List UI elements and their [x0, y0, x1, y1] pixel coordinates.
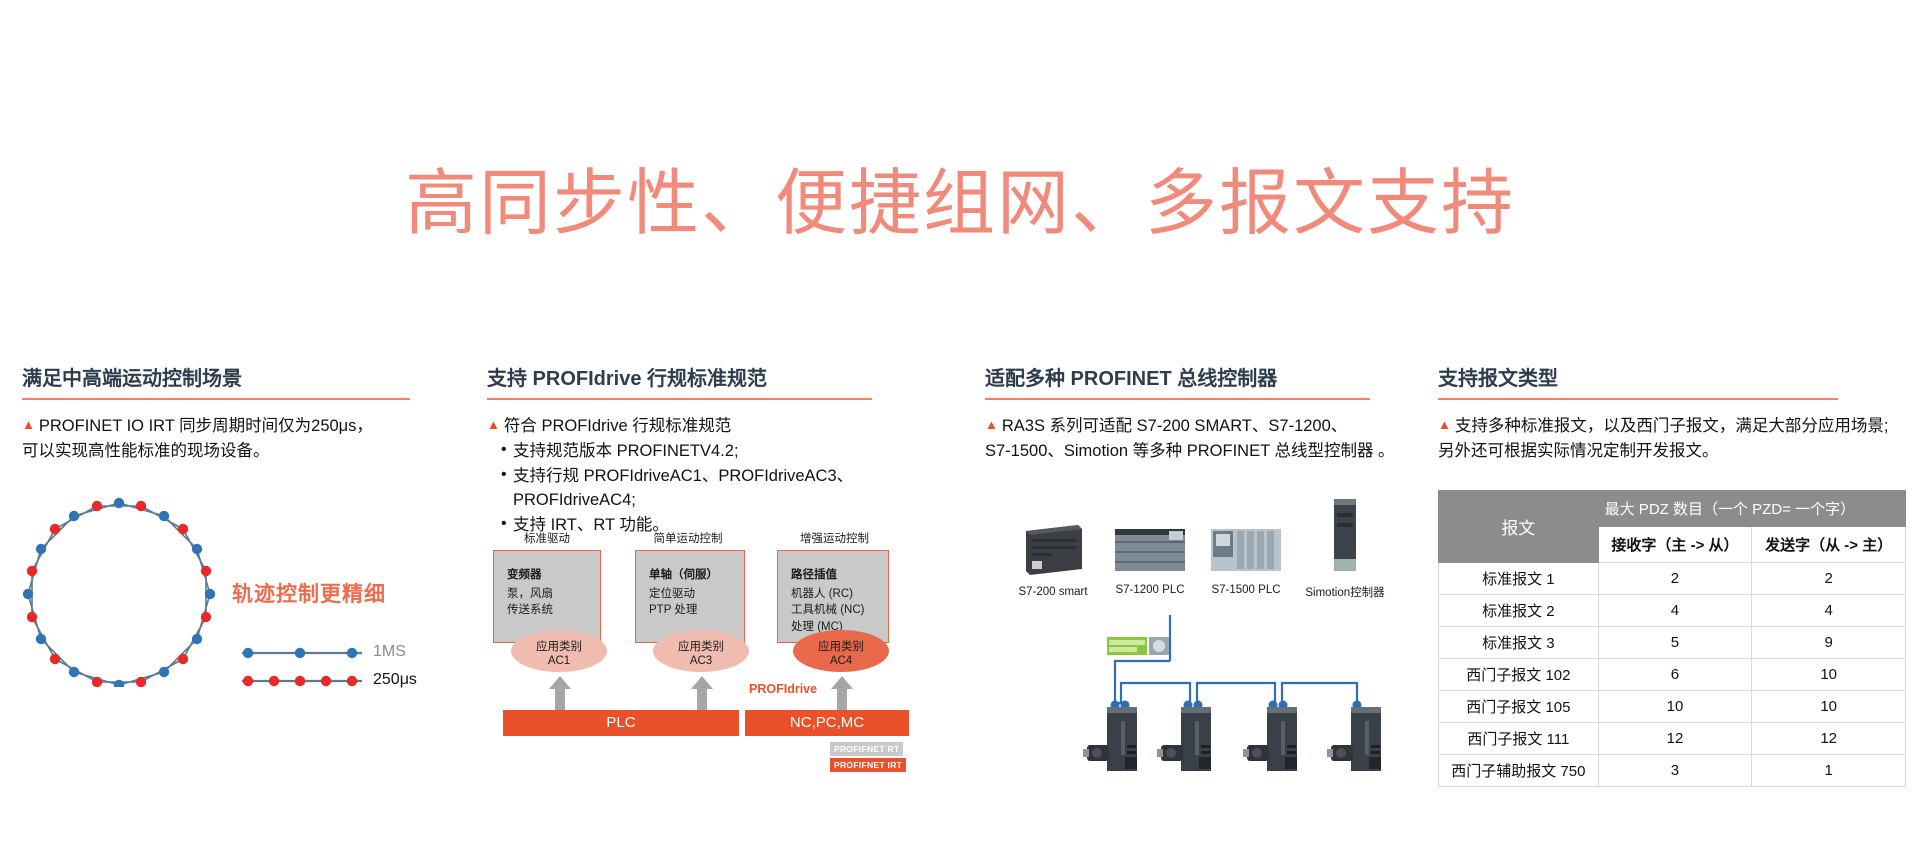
profidrive-box-standard-drive: 变频器 泵，风扇 传送系统 [493, 550, 601, 643]
servo-drive-icon [1083, 705, 1145, 777]
table-row: 标准报文 3 5 9 [1439, 627, 1906, 659]
controller-s7-200-smart: S7-200 smart [1003, 519, 1103, 598]
section-3-lead2: S7-1500、Simotion 等多种 PROFINET 总线型控制器 。 [985, 439, 1405, 464]
table-row: 西门子报文 102 6 10 [1439, 659, 1906, 691]
circle-svg [14, 487, 224, 687]
cell-telegram-name: 标准报文 2 [1439, 595, 1599, 627]
controller-label: S7-200 smart [1003, 586, 1103, 598]
profidrive-oval-ac1: 应用类别 AC1 [511, 630, 607, 672]
section-1-lead: PROFINET IO IRT 同步周期时间仅为250μs， [39, 417, 373, 435]
profidrive-bar-ncpcmc: NC,PC,MC [745, 710, 909, 736]
trajectory-circle-diagram [14, 487, 224, 687]
box-line: 机器人 (RC) [791, 586, 888, 603]
cell-telegram-name: 西门子报文 105 [1439, 691, 1599, 723]
cell-send: 10 [1752, 691, 1906, 723]
cell-send: 9 [1752, 627, 1906, 659]
legend-label-250us: 250μs [373, 671, 417, 689]
profidrive-box-simple-motion: 单轴（伺服） 定位驱动 PTP 处理 [635, 550, 745, 643]
table-col-header-telegram: 报文 [1439, 491, 1599, 563]
cell-receive: 10 [1598, 691, 1752, 723]
servo-drive-icon [1327, 705, 1389, 777]
table-row: 标准报文 2 4 4 [1439, 595, 1906, 627]
servo-drive-unit [1083, 705, 1145, 782]
plc-s7-1500-icon [1207, 521, 1285, 575]
table-col-header-receive: 接收字（主 -> 从） [1598, 527, 1752, 563]
network-topology-diagram [985, 615, 1405, 815]
controller-label: Simotion控制器 [1285, 584, 1405, 600]
servo-drive-icon [1243, 705, 1305, 777]
list-item: 支持行规 PROFIdriveAC1、PROFIdriveAC3、PROFIdr… [501, 464, 937, 514]
section-4-lead: 支持多种标准报文，以及西门子报文，满足大部分应用场景; [1455, 417, 1889, 435]
cell-send: 4 [1752, 595, 1906, 627]
up-arrow-icon [691, 676, 713, 710]
cell-receive: 12 [1598, 723, 1752, 755]
controller-s7-1200: S7-1200 PLC [1095, 521, 1205, 596]
badge-profinet-irt: PROFIFNET IRT [830, 758, 906, 772]
profidrive-oval-ac3: 应用类别 AC3 [653, 630, 749, 672]
cell-send: 1 [1752, 755, 1906, 787]
profidrive-caption: 增强运动控制 [767, 530, 902, 546]
section-3-rule [985, 398, 1370, 400]
section-2-lead: 符合 PROFIdrive 行规标准规范 [504, 417, 731, 435]
table-row: 西门子报文 111 12 12 [1439, 723, 1906, 755]
box-title: 单轴（伺服） [649, 567, 744, 584]
section-profidrive: 支持 PROFIdrive 行规标准规范 ▲符合 PROFIdrive 行规标准… [487, 362, 937, 538]
servo-drive-unit [1157, 705, 1219, 782]
profidrive-caption: 标准驱动 [487, 530, 607, 546]
section-1-body: ▲PROFINET IO IRT 同步周期时间仅为250μs， 可以实现高性能标… [22, 414, 442, 464]
cell-telegram-name: 西门子报文 102 [1439, 659, 1599, 691]
box-line: 传送系统 [507, 602, 600, 619]
table-body: 标准报文 1 2 2 标准报文 2 4 4 标准报文 3 5 9 西门子报文 1… [1439, 563, 1906, 787]
legend-row-1ms: 1MS [238, 640, 428, 668]
cell-send: 12 [1752, 723, 1906, 755]
profidrive-bar-plc: PLC [503, 710, 739, 736]
section-3-body: ▲RA3S 系列可适配 S7-200 SMART、S7-1200、 S7-150… [985, 414, 1405, 464]
profidrive-label: PROFIdrive [749, 682, 817, 696]
section-1-heading: 满足中高端运动控制场景 [22, 362, 442, 398]
profidrive-oval-ac4: 应用类别 AC4 [793, 630, 889, 672]
oval-line-2: AC4 [793, 654, 889, 668]
table-head: 报文 最大 PDZ 数目（一个 PZD= 一个字） 接收字（主 -> 从） 发送… [1439, 491, 1906, 563]
page-title: 高同步性、便捷组网、多报文支持 [0, 168, 1920, 240]
controller-label: S7-1200 PLC [1095, 584, 1205, 596]
simotion-icon [1328, 497, 1362, 575]
section-4-rule [1438, 398, 1838, 400]
cell-telegram-name: 西门子辅助报文 750 [1439, 755, 1599, 787]
telegram-table: 报文 最大 PDZ 数目（一个 PZD= 一个字） 接收字（主 -> 从） 发送… [1438, 490, 1906, 787]
cell-receive: 5 [1598, 627, 1752, 659]
box-line: 定位驱动 [649, 586, 744, 603]
legend-row-250us: 250μs [238, 668, 428, 696]
badge-profinet-rt: PROFIFNET RT [830, 742, 903, 756]
box-title: 路径插值 [791, 567, 888, 584]
section-4-body: ▲支持多种标准报文，以及西门子报文，满足大部分应用场景; 另外还可根据实际情况定… [1438, 414, 1903, 464]
triangle-bullet-icon: ▲ [487, 417, 500, 432]
oval-line-1: 应用类别 [653, 640, 749, 654]
box-line: PTP 处理 [649, 602, 744, 619]
triangle-bullet-icon: ▲ [1438, 417, 1451, 432]
section-4-lead2: 另外还可根据实际情况定制开发报文。 [1438, 439, 1903, 464]
oval-line-1: 应用类别 [793, 640, 889, 654]
table-header-row-1: 报文 最大 PDZ 数目（一个 PZD= 一个字） [1439, 491, 1906, 527]
table-col-header-send: 发送字（从 -> 主） [1752, 527, 1906, 563]
table-row: 西门子辅助报文 750 3 1 [1439, 755, 1906, 787]
cell-telegram-name: 标准报文 1 [1439, 563, 1599, 595]
triangle-bullet-icon: ▲ [22, 417, 35, 432]
section-2-rule [487, 398, 872, 400]
cell-send: 10 [1752, 659, 1906, 691]
cell-telegram-name: 标准报文 3 [1439, 627, 1599, 659]
telegram-table-wrapper: 报文 最大 PDZ 数目（一个 PZD= 一个字） 接收字（主 -> 从） 发送… [1438, 490, 1906, 787]
servo-drive-unit [1243, 705, 1305, 782]
table-row: 标准报文 1 2 2 [1439, 563, 1906, 595]
up-arrow-icon [831, 676, 853, 710]
oval-line-1: 应用类别 [511, 640, 607, 654]
section-2-body: ▲符合 PROFIdrive 行规标准规范 支持规范版本 PROFINETV4.… [487, 414, 937, 538]
section-2-bullets: 支持规范版本 PROFINETV4.2; 支持行规 PROFIdriveAC1、… [487, 439, 937, 538]
profidrive-diagram: 标准驱动 简单运动控制 增强运动控制 变频器 泵，风扇 传送系统 单轴（伺服） … [487, 530, 937, 830]
oval-line-2: AC3 [653, 654, 749, 668]
box-title: 变频器 [507, 567, 600, 584]
profidrive-caption: 简单运动控制 [623, 530, 753, 546]
section-3-lead: RA3S 系列可适配 S7-200 SMART、S7-1200、 [1002, 417, 1347, 435]
section-2-heading: 支持 PROFIdrive 行规标准规范 [487, 362, 937, 398]
legend-label-1ms: 1MS [373, 643, 406, 661]
profidrive-box-enhanced-motion: 路径插值 机器人 (RC) 工具机械 (NC) 处理 (MC) [777, 550, 889, 643]
trajectory-legend: 1MS 250μs [238, 640, 428, 696]
section-4-heading: 支持报文类型 [1438, 362, 1903, 398]
cell-receive: 2 [1598, 563, 1752, 595]
cell-receive: 4 [1598, 595, 1752, 627]
box-line: 工具机械 (NC) [791, 602, 888, 619]
section-3-heading: 适配多种 PROFINET 总线控制器 [985, 362, 1405, 398]
legend-line-red [238, 668, 368, 694]
legend-line-blue [238, 640, 368, 666]
section-bus-controllers: 适配多种 PROFINET 总线控制器 ▲RA3S 系列可适配 S7-200 S… [985, 362, 1405, 464]
controller-gallery: S7-200 smart S7-1200 PLC [985, 505, 1405, 605]
cell-receive: 3 [1598, 755, 1752, 787]
controller-simotion: Simotion控制器 [1285, 497, 1405, 600]
table-group-header-pdz: 最大 PDZ 数目（一个 PZD= 一个字） [1598, 491, 1905, 527]
section-telegram-types: 支持报文类型 ▲支持多种标准报文，以及西门子报文，满足大部分应用场景; 另外还可… [1438, 362, 1903, 464]
triangle-bullet-icon: ▲ [985, 417, 998, 432]
cell-receive: 6 [1598, 659, 1752, 691]
slide-root: 高同步性、便捷组网、多报文支持 满足中高端运动控制场景 ▲PROFINET IO… [0, 0, 1920, 860]
section-motion-control: 满足中高端运动控制场景 ▲PROFINET IO IRT 同步周期时间仅为250… [22, 362, 442, 464]
section-1-rule [22, 398, 410, 400]
section-1-lead2: 可以实现高性能标准的现场设备。 [22, 439, 442, 464]
plc-s7-200-icon [1020, 519, 1086, 577]
oval-line-2: AC1 [511, 654, 607, 668]
up-arrow-icon [549, 676, 571, 710]
list-item: 支持规范版本 PROFINETV4.2; [501, 439, 937, 464]
plc-s7-1200-icon [1111, 521, 1189, 575]
table-row: 西门子报文 105 10 10 [1439, 691, 1906, 723]
servo-drive-unit [1327, 705, 1389, 782]
cell-telegram-name: 西门子报文 111 [1439, 723, 1599, 755]
trajectory-label: 轨迹控制更精细 [232, 578, 386, 608]
box-line: 泵，风扇 [507, 586, 600, 603]
cell-send: 2 [1752, 563, 1906, 595]
servo-drive-icon [1157, 705, 1219, 777]
